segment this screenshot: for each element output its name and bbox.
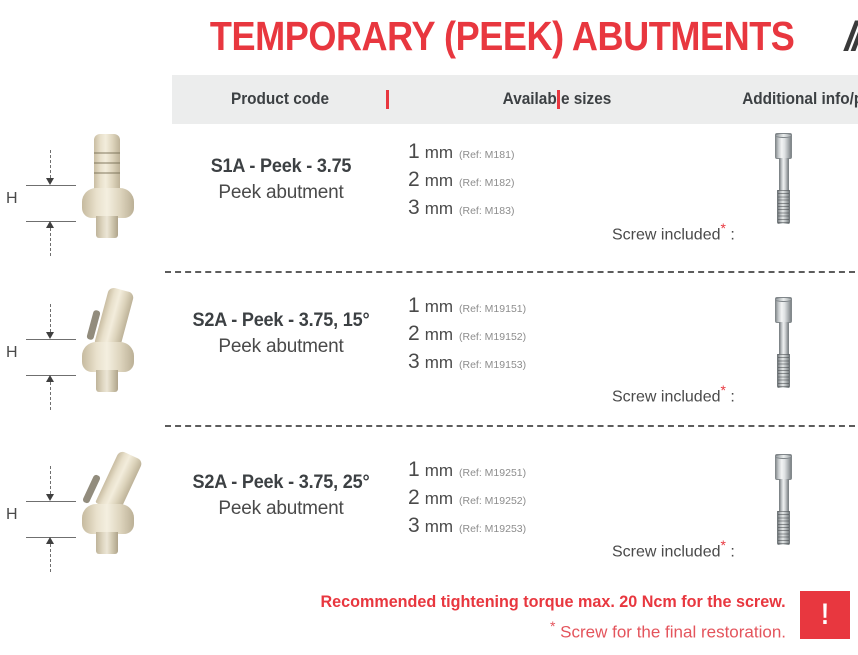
table-row: H S1A - Peek - 3.75 Peek abutment: [0, 128, 858, 278]
catalog-page: TEMPORARY (PEEK) ABUTMENTS // Product co…: [0, 0, 858, 655]
size-value: 3: [408, 196, 420, 220]
footnote-text: Screw for the final restoration.: [555, 623, 786, 642]
product-code: S2A - Peek - 3.75, 25°: [177, 472, 384, 494]
size-item: 1 mm (Ref: M19251): [408, 458, 598, 482]
size-value: 2: [408, 486, 420, 510]
size-unit: mm: [425, 297, 453, 317]
size-value: 1: [408, 140, 420, 164]
column-header-product-code: Product code: [180, 90, 381, 109]
screw-icon: [768, 133, 798, 225]
size-value: 1: [408, 294, 420, 318]
size-item: 2 mm (Ref: M182): [408, 168, 598, 192]
size-reference: (Ref: M182): [459, 177, 514, 189]
footer-notes: Recommended tightening torque max. 20 Nc…: [0, 588, 858, 655]
screw-shaft: [779, 322, 789, 355]
size-item: 1 mm (Ref: M19151): [408, 294, 598, 318]
page-title: TEMPORARY (PEEK) ABUTMENTS //: [172, 8, 858, 64]
size-unit: mm: [425, 353, 453, 373]
screw-included-text: Screw included: [612, 226, 721, 243]
height-marker-label: H: [6, 506, 18, 524]
screw-thread: [777, 511, 790, 545]
height-dimension-dash-bottom: [50, 544, 51, 572]
abutment-illustration-cell: H: [0, 128, 172, 278]
abutment-collar: [82, 342, 134, 372]
page-title-text: TEMPORARY (PEEK) ABUTMENTS: [210, 13, 795, 60]
abutment-retention-groove: [94, 172, 120, 174]
abutment-post: [94, 287, 134, 350]
product-code-cell: S2A - Peek - 3.75, 25° Peek abutment: [172, 472, 390, 520]
product-description: Peek abutment: [172, 498, 390, 520]
size-item: 1 mm (Ref: M181): [408, 140, 598, 164]
abutment-illustration-cell: H: [0, 282, 172, 432]
product-code-cell: S1A - Peek - 3.75 Peek abutment: [172, 156, 390, 204]
size-reference: (Ref: M181): [459, 149, 514, 161]
screw-shaft: [779, 479, 789, 512]
screw-thread: [777, 190, 790, 224]
size-unit: mm: [425, 517, 453, 537]
size-item: 3 mm (Ref: M183): [408, 196, 598, 220]
abutment-illustration-cell: H: [0, 436, 172, 586]
table-row: H S2A - Peek - 3.75, 25° Peek abutment 1…: [0, 436, 858, 586]
screw-head-top: [775, 454, 792, 459]
row-separator: [165, 271, 855, 273]
warning-badge: !: [800, 591, 850, 639]
additional-info-cell: Screw included* :: [600, 282, 858, 432]
height-marker-label: H: [6, 344, 18, 362]
screw-included-text: Screw included: [612, 543, 721, 560]
table-header-row: Product code Available sizes Additional …: [172, 75, 858, 124]
screw-included-text: Screw included: [612, 388, 721, 405]
screw-thread: [777, 354, 790, 388]
product-description: Peek abutment: [172, 336, 390, 358]
abutment-retention-groove: [94, 152, 120, 154]
abutment-collar: [82, 188, 134, 218]
height-dimension-dash-top: [50, 150, 51, 178]
size-reference: (Ref: M19151): [459, 303, 526, 315]
table-row: H S2A - Peek - 3.75, 15° Peek abutment 1…: [0, 282, 858, 432]
height-dimension-dash-bottom: [50, 382, 51, 410]
abutment-base: [96, 370, 118, 392]
abutment-collar: [82, 504, 134, 534]
size-value: 3: [408, 350, 420, 374]
size-unit: mm: [425, 489, 453, 509]
available-sizes-cell: 1 mm (Ref: M19151) 2 mm (Ref: M19152) 3 …: [408, 294, 598, 378]
size-unit: mm: [425, 171, 453, 191]
height-dimension-dash-bottom: [50, 228, 51, 256]
product-code-cell: S2A - Peek - 3.75, 15° Peek abutment: [172, 310, 390, 358]
product-code: S2A - Peek - 3.75, 15°: [177, 310, 384, 332]
additional-info-cell: Screw included* :: [600, 436, 858, 586]
height-dimension-dash-top: [50, 304, 51, 332]
peek-abutment-image: [52, 130, 162, 276]
screw-included-label: Screw included* :: [612, 537, 735, 561]
size-item: 2 mm (Ref: M19252): [408, 486, 598, 510]
screw-icon: [768, 454, 798, 546]
abutment-retention-groove: [94, 162, 120, 164]
size-value: 1: [408, 458, 420, 482]
size-reference: (Ref: M183): [459, 205, 514, 217]
asterisk-marker: *: [721, 382, 726, 398]
abutment-base: [96, 216, 118, 238]
available-sizes-cell: 1 mm (Ref: M181) 2 mm (Ref: M182) 3 mm (…: [408, 140, 598, 224]
size-item: 2 mm (Ref: M19152): [408, 322, 598, 346]
size-value: 2: [408, 322, 420, 346]
abutment-base: [96, 532, 118, 554]
size-reference: (Ref: M19152): [459, 331, 526, 343]
colon-marker: :: [730, 543, 734, 560]
asterisk-marker: *: [721, 220, 726, 236]
header-divider-1: [386, 90, 389, 109]
height-dimension-dash-top: [50, 466, 51, 494]
peek-abutment-image: [52, 284, 162, 430]
screw-included-label: Screw included* :: [612, 382, 735, 406]
size-value: 3: [408, 514, 420, 538]
size-unit: mm: [425, 143, 453, 163]
size-reference: (Ref: M19252): [459, 495, 526, 507]
available-sizes-cell: 1 mm (Ref: M19251) 2 mm (Ref: M19252) 3 …: [408, 458, 598, 542]
additional-info-cell: Screw included* :: [600, 128, 858, 278]
header-divider-2: [557, 90, 560, 109]
screw-icon: [768, 297, 798, 389]
screw-head-top: [775, 133, 792, 138]
asterisk-marker: *: [721, 537, 726, 553]
colon-marker: :: [730, 226, 734, 243]
size-reference: (Ref: M19253): [459, 523, 526, 535]
size-value: 2: [408, 168, 420, 192]
column-header-additional-info: Additional info/parts: [742, 90, 854, 109]
screw-shaft: [779, 158, 789, 191]
title-slashes-decoration: //: [845, 13, 858, 60]
height-marker-label: H: [6, 190, 18, 208]
colon-marker: :: [730, 388, 734, 405]
peek-abutment-image: [52, 446, 162, 592]
product-code: S1A - Peek - 3.75: [177, 156, 384, 178]
exclamation-icon: !: [821, 600, 829, 630]
screw-included-label: Screw included* :: [612, 220, 735, 244]
size-reference: (Ref: M19153): [459, 359, 526, 371]
product-description: Peek abutment: [172, 182, 390, 204]
size-reference: (Ref: M19251): [459, 467, 526, 479]
size-item: 3 mm (Ref: M19153): [408, 350, 598, 374]
size-item: 3 mm (Ref: M19253): [408, 514, 598, 538]
screw-head-top: [775, 297, 792, 302]
size-unit: mm: [425, 461, 453, 481]
torque-warning-text: Recommended tightening torque max. 20 Nc…: [321, 592, 786, 612]
row-separator: [165, 425, 855, 427]
size-unit: mm: [425, 199, 453, 219]
size-unit: mm: [425, 325, 453, 345]
screw-footnote: * Screw for the final restoration.: [550, 618, 786, 643]
